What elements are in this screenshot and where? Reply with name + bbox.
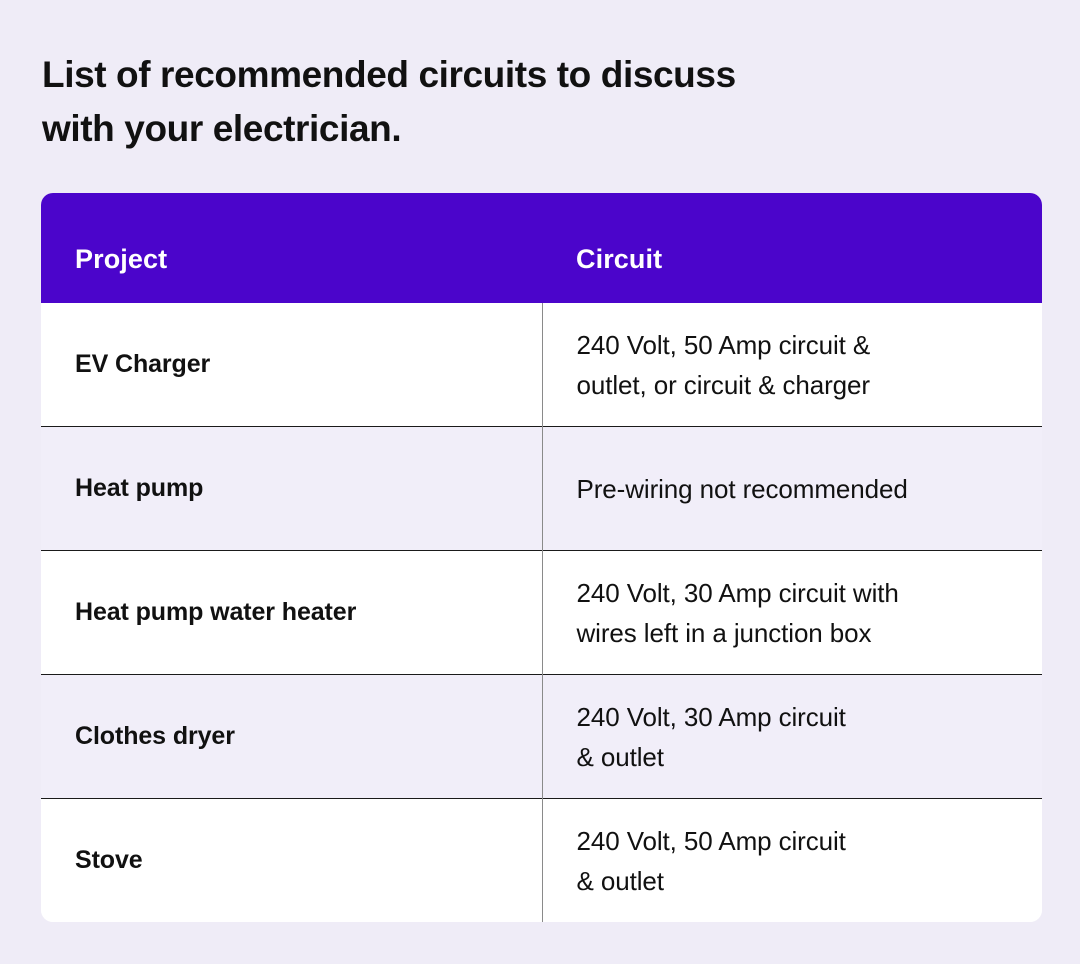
cell-project-label: Stove bbox=[41, 846, 542, 875]
cell-circuit-line: 240 Volt, 30 Amp circuit with bbox=[577, 573, 1019, 613]
cell-circuit-line: 240 Volt, 30 Amp circuit bbox=[577, 697, 1019, 737]
cell-circuit-text: 240 Volt, 50 Amp circuit & outlet bbox=[543, 821, 1043, 901]
column-header-circuit: Circuit bbox=[542, 193, 1042, 303]
page-title-line-1: List of recommended circuits to discuss bbox=[42, 48, 862, 102]
cell-circuit: 240 Volt, 30 Amp circuit & outlet bbox=[542, 675, 1042, 799]
table-row: Clothes dryer 240 Volt, 30 Amp circuit &… bbox=[41, 675, 1042, 799]
table-row: EV Charger 240 Volt, 50 Amp circuit & ou… bbox=[41, 303, 1042, 427]
cell-project: Clothes dryer bbox=[41, 675, 542, 799]
cell-project-label: Clothes dryer bbox=[41, 722, 542, 751]
table-row: Stove 240 Volt, 50 Amp circuit & outlet bbox=[41, 799, 1042, 923]
table-row: Heat pump Pre-wiring not recommended bbox=[41, 427, 1042, 551]
page-root: List of recommended circuits to discuss … bbox=[0, 0, 1080, 964]
cell-circuit: 240 Volt, 50 Amp circuit & outlet, or ci… bbox=[542, 303, 1042, 427]
cell-circuit-text: 240 Volt, 50 Amp circuit & outlet, or ci… bbox=[543, 325, 1043, 405]
circuits-table-container: Project Circuit EV Charger 240 Volt, 50 … bbox=[41, 193, 1042, 922]
cell-circuit: Pre-wiring not recommended bbox=[542, 427, 1042, 551]
cell-circuit-line: Pre-wiring not recommended bbox=[577, 469, 1019, 509]
cell-circuit: 240 Volt, 50 Amp circuit & outlet bbox=[542, 799, 1042, 923]
table-body: EV Charger 240 Volt, 50 Amp circuit & ou… bbox=[41, 303, 1042, 922]
cell-circuit-text: 240 Volt, 30 Amp circuit with wires left… bbox=[543, 573, 1043, 653]
column-header-project-label: Project bbox=[41, 222, 542, 275]
page-title-line-2: with your electrician. bbox=[42, 102, 862, 156]
table-header-row: Project Circuit bbox=[41, 193, 1042, 303]
cell-circuit-text: 240 Volt, 30 Amp circuit & outlet bbox=[543, 697, 1043, 777]
cell-project-label: Heat pump bbox=[41, 474, 542, 503]
cell-circuit-line: outlet, or circuit & charger bbox=[577, 365, 1019, 405]
cell-circuit-line: 240 Volt, 50 Amp circuit bbox=[577, 821, 1019, 861]
table-header: Project Circuit bbox=[41, 193, 1042, 303]
cell-project-label: Heat pump water heater bbox=[41, 598, 542, 627]
cell-project: Heat pump water heater bbox=[41, 551, 542, 675]
page-title: List of recommended circuits to discuss … bbox=[42, 48, 862, 156]
table-row: Heat pump water heater 240 Volt, 30 Amp … bbox=[41, 551, 1042, 675]
cell-project-label: EV Charger bbox=[41, 350, 542, 379]
cell-circuit-line: 240 Volt, 50 Amp circuit & bbox=[577, 325, 1019, 365]
column-header-project: Project bbox=[41, 193, 542, 303]
circuits-table: Project Circuit EV Charger 240 Volt, 50 … bbox=[41, 193, 1042, 922]
cell-circuit-text: Pre-wiring not recommended bbox=[543, 469, 1043, 509]
cell-project: EV Charger bbox=[41, 303, 542, 427]
cell-project: Stove bbox=[41, 799, 542, 923]
cell-circuit-line: wires left in a junction box bbox=[577, 613, 1019, 653]
cell-circuit: 240 Volt, 30 Amp circuit with wires left… bbox=[542, 551, 1042, 675]
cell-circuit-line: & outlet bbox=[577, 737, 1019, 777]
cell-project: Heat pump bbox=[41, 427, 542, 551]
column-header-circuit-label: Circuit bbox=[542, 222, 1042, 275]
cell-circuit-line: & outlet bbox=[577, 861, 1019, 901]
